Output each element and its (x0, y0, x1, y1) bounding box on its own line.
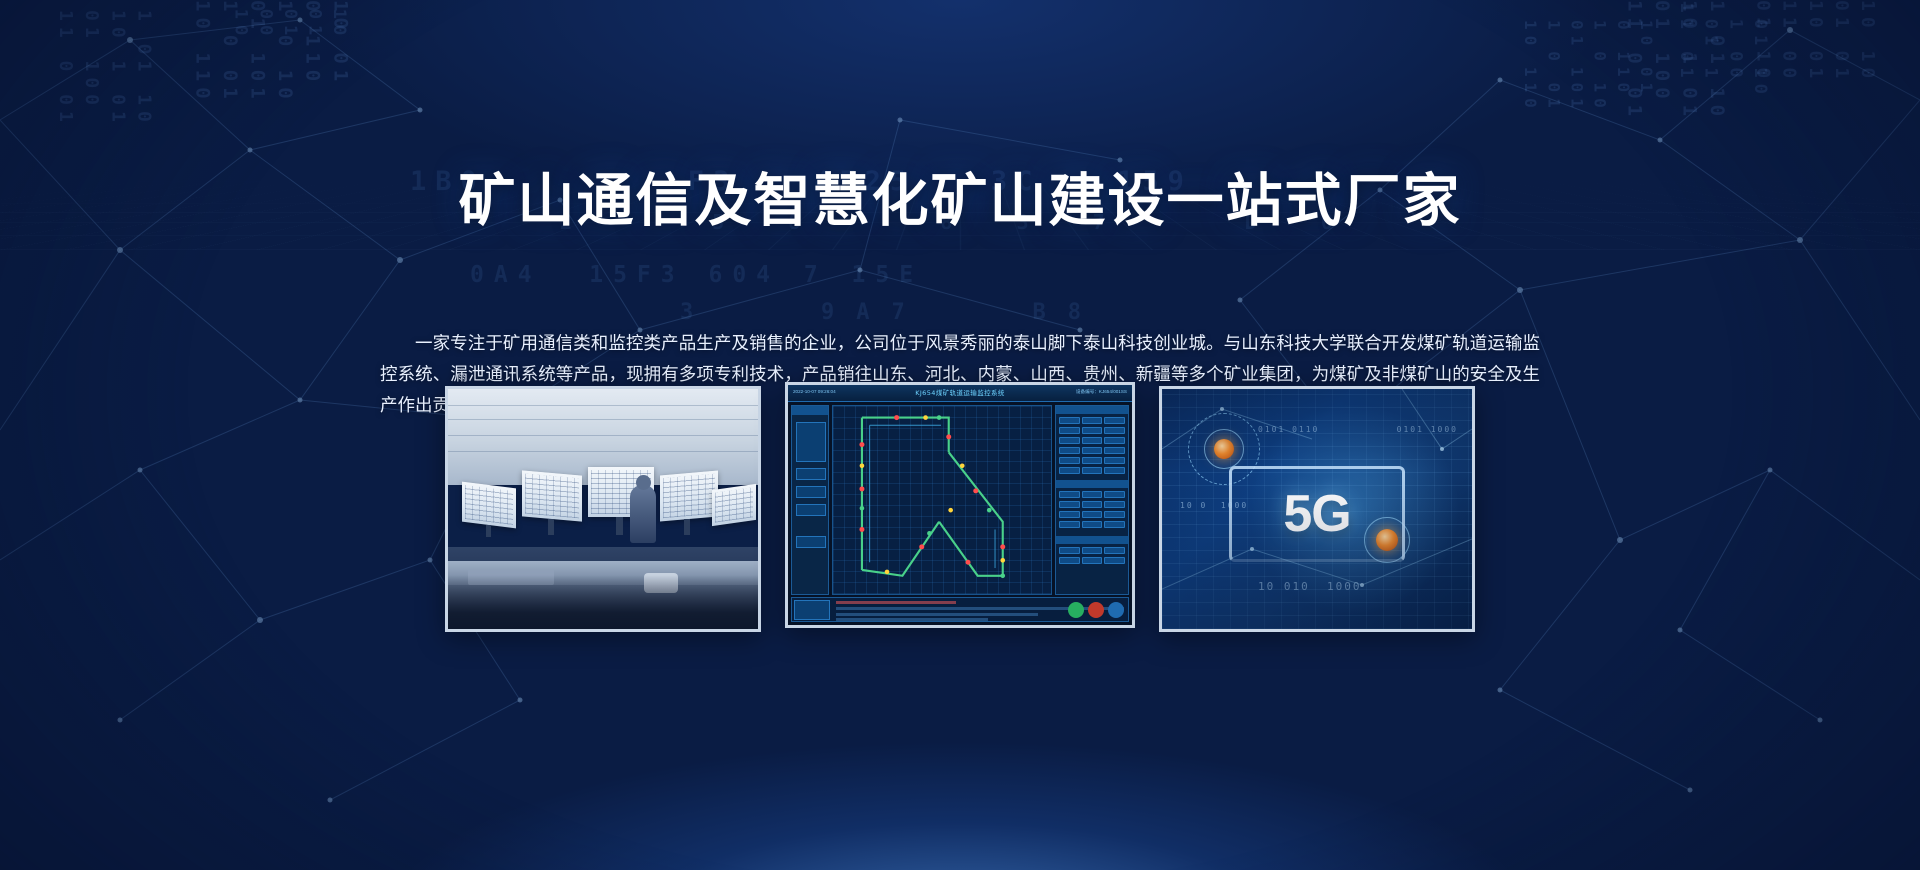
scada-device-id: 设备编号：KJ654/001SS (1076, 389, 1127, 395)
page-title: 矿山通信及智慧化矿山建设一站式厂家 (0, 172, 1920, 232)
scada-log-bar[interactable] (791, 597, 1129, 622)
gallery-item-5g[interactable]: 5G 0101 0110 0101 1000 10 0 1000 10 010 … (1159, 386, 1475, 632)
5g-technology-photo: 5G 0101 0110 0101 1000 10 0 1000 10 010 … (1162, 389, 1472, 629)
scada-timestamp: 2022-10-07 09:26:04 (793, 389, 836, 394)
image-gallery: KJ654煤矿轨道运输监控系统 2022-10-07 09:26:04 设备编号… (445, 386, 1475, 632)
scada-left-panel[interactable] (791, 405, 829, 595)
control-room-photo (448, 389, 758, 629)
mine-monitoring-system-screenshot: KJ654煤矿轨道运输监控系统 2022-10-07 09:26:04 设备编号… (788, 385, 1132, 625)
gallery-item-control-room[interactable] (445, 386, 761, 632)
scada-tunnel-canvas[interactable] (832, 405, 1052, 595)
hero-banner: 1B0 F3 4E25 3C 159 0A4 15F3 604 7 15E 3 … (0, 0, 1920, 870)
gallery-item-monitoring-system[interactable]: KJ654煤矿轨道运输监控系统 2022-10-07 09:26:04 设备编号… (785, 382, 1135, 628)
scada-right-panel[interactable] (1055, 405, 1129, 595)
